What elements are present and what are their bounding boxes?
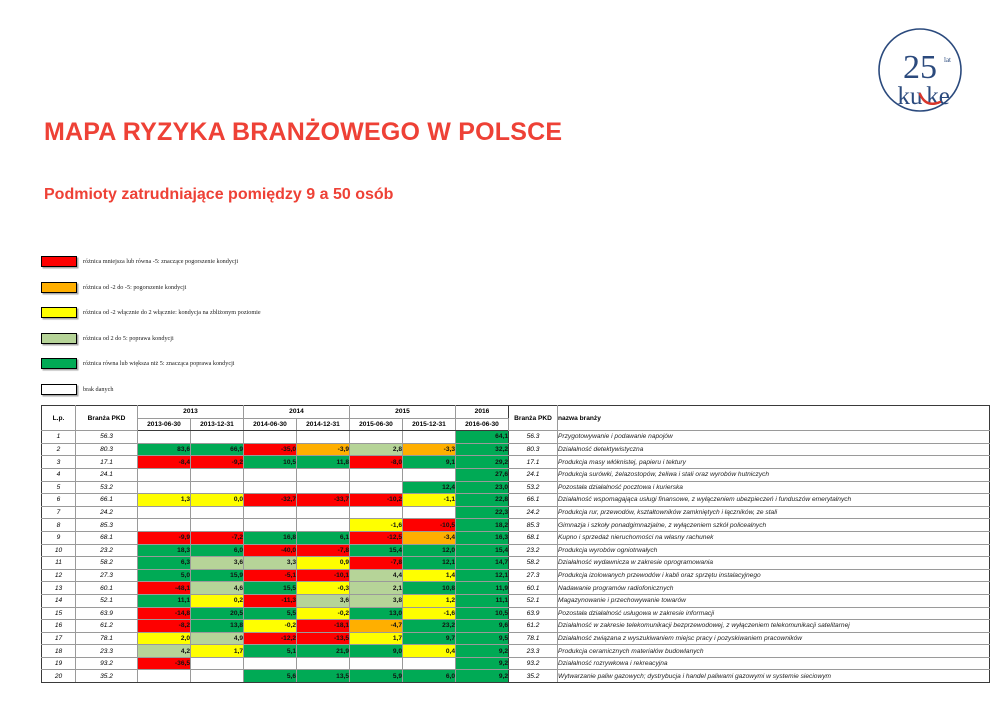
cell-value [350, 468, 403, 481]
cell-value: -12,5 [350, 531, 403, 544]
cell-value: -0,2 [244, 620, 297, 633]
cell-value [350, 431, 403, 444]
cell-value: -8,4 [138, 456, 191, 469]
table-row: 885.3-1,6-10,518,285.3Gimnazja i szkoły … [42, 519, 990, 532]
cell-value [244, 657, 297, 670]
cell-value: 12,0 [403, 544, 456, 557]
cell-value: 12,4 [403, 481, 456, 494]
th-date-2014-12-31: 2014-12-31 [297, 418, 350, 431]
header-row-groups: L.p. Branża PKD 2013 2014 2015 2016 Bran… [42, 406, 990, 419]
cell-value: 23,2 [403, 620, 456, 633]
cell-pkd-right: 85.3 [509, 519, 558, 532]
cell-value: 5,5 [244, 607, 297, 620]
cell-value: 0,0 [191, 494, 244, 507]
cell-pkd: 58.2 [76, 557, 138, 570]
cell-branch-name: Działalność wspomagająca usługi finansow… [558, 494, 990, 507]
cell-value: -9,2 [191, 456, 244, 469]
cell-value: -10,5 [403, 519, 456, 532]
cell-lp: 11 [42, 557, 76, 570]
cell-lp: 2 [42, 443, 76, 456]
cell-value [403, 431, 456, 444]
cell-value: 9,2 [456, 670, 509, 683]
cell-branch-name: Działalność związana z wyszukiwaniem mie… [558, 632, 990, 645]
cell-value: 11,9 [456, 582, 509, 595]
cell-branch-name: Działalność wydawnicza w zakresie oprogr… [558, 557, 990, 570]
cell-lp: 1 [42, 431, 76, 444]
cell-value: 10,5 [456, 607, 509, 620]
cell-value: -8,0 [350, 456, 403, 469]
cell-value: -3,3 [403, 443, 456, 456]
cell-value: 3,6 [297, 594, 350, 607]
cell-value [138, 506, 191, 519]
cell-value [403, 657, 456, 670]
cell-lp: 17 [42, 632, 76, 645]
cell-value: -36,5 [138, 657, 191, 670]
legend-swatch [41, 384, 77, 395]
cell-pkd-right: 24.1 [509, 468, 558, 481]
cell-value [191, 657, 244, 670]
cell-value: 15,9 [191, 569, 244, 582]
table-row: 1823.34,21,75,121,99,00,49,223.3Produkcj… [42, 645, 990, 658]
legend-item: brak danych [41, 383, 601, 396]
cell-lp: 14 [42, 594, 76, 607]
table-row: 156.364,156.3Przygotowywanie i podawanie… [42, 431, 990, 444]
table-row: 553.212,423,053.2Pozostała działalność p… [42, 481, 990, 494]
cell-lp: 15 [42, 607, 76, 620]
cell-value: 11,1 [138, 594, 191, 607]
legend-swatch [41, 256, 77, 267]
cell-value [403, 506, 456, 519]
cell-value: 13,0 [350, 607, 403, 620]
cell-value [138, 670, 191, 683]
cell-value: 6,0 [403, 670, 456, 683]
cell-pkd: 27.3 [76, 569, 138, 582]
th-date-2015-12-31: 2015-12-31 [403, 418, 456, 431]
cell-value: 4,2 [138, 645, 191, 658]
cell-lp: 7 [42, 506, 76, 519]
cell-value [244, 519, 297, 532]
table-row: 317.1-8,4-9,210,511,8-8,09,129,217.1Prod… [42, 456, 990, 469]
cell-branch-name: Produkcja surówki, żelazostopów, żeliwa … [558, 468, 990, 481]
cell-pkd-right: 80.3 [509, 443, 558, 456]
kuke-logo: 25 lat ku ke [862, 22, 974, 122]
cell-value: 13,8 [191, 620, 244, 633]
cell-branch-name: Pozostała działalność pocztowa i kuriers… [558, 481, 990, 494]
table-row: 1360.1-48,14,615,5-0,32,110,811,960.1Nad… [42, 582, 990, 595]
cell-value: 3,8 [350, 594, 403, 607]
svg-text:lat: lat [944, 56, 951, 64]
cell-pkd: 35.2 [76, 670, 138, 683]
cell-pkd: 61.2 [76, 620, 138, 633]
cell-value: -0,3 [297, 582, 350, 595]
th-lp: L.p. [42, 406, 76, 431]
cell-lp: 13 [42, 582, 76, 595]
cell-value: 1,2 [403, 594, 456, 607]
legend-swatch [41, 358, 77, 369]
cell-pkd-right: 56.3 [509, 431, 558, 444]
cell-value: -9,9 [138, 531, 191, 544]
cell-pkd-right: 35.2 [509, 670, 558, 683]
cell-value: 29,2 [456, 456, 509, 469]
cell-value: 22,8 [456, 494, 509, 507]
cell-value: -11,3 [244, 594, 297, 607]
cell-value: -40,0 [244, 544, 297, 557]
cell-value: 32,2 [456, 443, 509, 456]
table-row: 1993.2-36,59,293.2Działalność rozrywkowa… [42, 657, 990, 670]
cell-value: 2,1 [350, 582, 403, 595]
cell-value: -1,1 [403, 494, 456, 507]
cell-lp: 19 [42, 657, 76, 670]
cell-value: -32,7 [244, 494, 297, 507]
cell-value: 11,1 [456, 594, 509, 607]
cell-value [350, 506, 403, 519]
cell-value: 18,3 [138, 544, 191, 557]
th-group-2014: 2014 [244, 406, 350, 419]
cell-value [350, 657, 403, 670]
cell-lp: 16 [42, 620, 76, 633]
cell-value: -14,8 [138, 607, 191, 620]
cell-lp: 12 [42, 569, 76, 582]
cell-branch-name: Magazynowanie i przechowywanie towarów [558, 594, 990, 607]
cell-pkd-right: 66.1 [509, 494, 558, 507]
table-row: 1661.2-8,213,8-0,2-18,1-4,723,29,661.2Dz… [42, 620, 990, 633]
cell-value [244, 431, 297, 444]
cell-value [191, 481, 244, 494]
cell-value [297, 519, 350, 532]
cell-value: 15,5 [244, 582, 297, 595]
cell-value [350, 481, 403, 494]
cell-value: 11,8 [297, 456, 350, 469]
cell-lp: 18 [42, 645, 76, 658]
cell-value: -0,2 [297, 607, 350, 620]
legend-swatch [41, 307, 77, 318]
cell-pkd-right: 63.9 [509, 607, 558, 620]
cell-value: 10,8 [403, 582, 456, 595]
th-group-2016: 2016 [456, 406, 509, 419]
page-subtitle: Podmioty zatrudniające pomiędzy 9 a 50 o… [44, 186, 393, 204]
cell-value [297, 481, 350, 494]
cell-value: -7,2 [191, 531, 244, 544]
cell-value: 9,1 [403, 456, 456, 469]
cell-value: 12,1 [403, 557, 456, 570]
cell-pkd-right: 61.2 [509, 620, 558, 633]
cell-pkd: 66.1 [76, 494, 138, 507]
cell-value [297, 468, 350, 481]
risk-table: L.p. Branża PKD 2013 2014 2015 2016 Bran… [41, 405, 990, 683]
cell-value: -1,6 [403, 607, 456, 620]
th-date-2015-06-30: 2015-06-30 [350, 418, 403, 431]
cell-pkd-right: 17.1 [509, 456, 558, 469]
th-group-2013: 2013 [138, 406, 244, 419]
legend-label: różnica od -2 włącznie do 2 włącznie: ko… [83, 309, 261, 316]
cell-value [244, 506, 297, 519]
cell-pkd-right: 53.2 [509, 481, 558, 494]
cell-value: 4,9 [191, 632, 244, 645]
cell-value [138, 431, 191, 444]
cell-pkd-right: 27.3 [509, 569, 558, 582]
cell-pkd: 78.1 [76, 632, 138, 645]
cell-pkd-right: 52.1 [509, 594, 558, 607]
cell-lp: 8 [42, 519, 76, 532]
cell-value: 27,6 [456, 468, 509, 481]
cell-value: 4,4 [350, 569, 403, 582]
cell-value: 64,1 [456, 431, 509, 444]
cell-value: -3,9 [297, 443, 350, 456]
legend-item: różnica mniejsza lub równa -5: znaczące … [41, 255, 601, 268]
cell-value: -18,1 [297, 620, 350, 633]
cell-branch-name: Działalność detektywistyczna [558, 443, 990, 456]
legend-label: brak danych [83, 386, 113, 393]
cell-pkd: 24.1 [76, 468, 138, 481]
legend-swatch [41, 282, 77, 293]
cell-lp: 6 [42, 494, 76, 507]
cell-value: -4,7 [350, 620, 403, 633]
table-row: 724.222,324.2Produkcja rur, przewodów, k… [42, 506, 990, 519]
cell-pkd-right: 78.1 [509, 632, 558, 645]
cell-branch-name: Przygotowywanie i podawanie napojów [558, 431, 990, 444]
cell-lp: 9 [42, 531, 76, 544]
table-row: 1227.35,015,9-5,1-10,14,41,412,127.3Prod… [42, 569, 990, 582]
cell-value: 2,8 [350, 443, 403, 456]
cell-lp: 10 [42, 544, 76, 557]
cell-value: 1,7 [350, 632, 403, 645]
cell-pkd: 24.2 [76, 506, 138, 519]
cell-value [297, 431, 350, 444]
cell-value: 66,9 [191, 443, 244, 456]
cell-value [191, 431, 244, 444]
cell-value: -1,6 [350, 519, 403, 532]
cell-value [297, 657, 350, 670]
cell-value: -12,2 [244, 632, 297, 645]
cell-value: 21,9 [297, 645, 350, 658]
cell-branch-name: Gimnazja i szkoły ponadgimnazjalne, z wy… [558, 519, 990, 532]
cell-value [191, 468, 244, 481]
cell-value: 2,0 [138, 632, 191, 645]
table-row: 1452.111,10,2-11,33,63,81,211,152.1Magaz… [42, 594, 990, 607]
cell-branch-name: Działalność w zakresie telekomunikacji b… [558, 620, 990, 633]
cell-pkd: 53.2 [76, 481, 138, 494]
cell-pkd: 63.9 [76, 607, 138, 620]
th-pkd-right: Branża PKD [509, 406, 558, 431]
cell-value [138, 468, 191, 481]
legend-swatch [41, 333, 77, 344]
cell-value: -10,1 [297, 569, 350, 582]
cell-value [297, 506, 350, 519]
cell-pkd-right: 93.2 [509, 657, 558, 670]
th-group-2015: 2015 [350, 406, 456, 419]
cell-value: 6,0 [191, 544, 244, 557]
cell-value: 1,7 [191, 645, 244, 658]
cell-value: 3,3 [244, 557, 297, 570]
cell-value: 22,3 [456, 506, 509, 519]
cell-value: 1,4 [403, 569, 456, 582]
cell-branch-name: Produkcja ceramicznych materiałów budowl… [558, 645, 990, 658]
cell-value: 9,2 [456, 657, 509, 670]
th-branch-name: nazwa branży [558, 406, 990, 431]
cell-value: 3,6 [191, 557, 244, 570]
cell-value [191, 506, 244, 519]
table-row: 424.127,624.1Produkcja surówki, żelazost… [42, 468, 990, 481]
cell-value: -13,5 [297, 632, 350, 645]
cell-branch-name: Produkcja izolowanych przewodów i kabli … [558, 569, 990, 582]
cell-value: 15,4 [350, 544, 403, 557]
cell-value [138, 519, 191, 532]
table-body: 156.364,156.3Przygotowywanie i podawanie… [42, 431, 990, 683]
table-row: 2035.25,613,55,96,09,235.2Wytwarzanie pa… [42, 670, 990, 683]
cell-value: -3,4 [403, 531, 456, 544]
table-row: 1563.9-14,820,55,5-0,213,0-1,610,563.9Po… [42, 607, 990, 620]
cell-value: 20,5 [191, 607, 244, 620]
cell-value: 83,6 [138, 443, 191, 456]
cell-branch-name: Kupno i sprzedaż nieruchomości na własny… [558, 531, 990, 544]
legend-item: różnica od 2 do 5: poprawa kondycji [41, 332, 601, 345]
cell-pkd: 17.1 [76, 456, 138, 469]
cell-value: 9,7 [403, 632, 456, 645]
table-row: 666.11,30,0-32,7-33,7-10,2-1,122,866.1Dz… [42, 494, 990, 507]
cell-value: 23,0 [456, 481, 509, 494]
cell-value: 9,0 [350, 645, 403, 658]
table-row: 968.1-9,9-7,216,86,1-12,5-3,416,368.1Kup… [42, 531, 990, 544]
cell-value: 9,6 [456, 620, 509, 633]
cell-value: 14,7 [456, 557, 509, 570]
cell-pkd-right: 60.1 [509, 582, 558, 595]
legend-label: różnica równa lub większa niż 5: znacząc… [83, 360, 235, 367]
th-date-2013-12-31: 2013-12-31 [191, 418, 244, 431]
cell-value: -48,1 [138, 582, 191, 595]
cell-value: 12,1 [456, 569, 509, 582]
cell-pkd: 52.1 [76, 594, 138, 607]
legend-item: różnica równa lub większa niż 5: znacząc… [41, 357, 601, 370]
cell-lp: 5 [42, 481, 76, 494]
table-row: 1778.12,04,9-12,2-13,51,79,79,578.1Dział… [42, 632, 990, 645]
cell-branch-name: Nadawanie programów radiofonicznych [558, 582, 990, 595]
cell-value: -8,2 [138, 620, 191, 633]
risk-table-wrapper: L.p. Branża PKD 2013 2014 2015 2016 Bran… [41, 405, 990, 683]
svg-text:25: 25 [903, 49, 937, 86]
legend-item: różnica od -2 włącznie do 2 włącznie: ko… [41, 306, 601, 319]
cell-value: -7,8 [297, 544, 350, 557]
cell-pkd: 23.2 [76, 544, 138, 557]
th-date-2013-06-30: 2013-06-30 [138, 418, 191, 431]
table-row: 280.383,666,9-35,0-3,92,8-3,332,280.3Dzi… [42, 443, 990, 456]
legend: różnica mniejsza lub równa -5: znaczące … [41, 255, 601, 409]
cell-value: 5,6 [244, 670, 297, 683]
cell-branch-name: Produkcja masy włóknistej, papieru i tek… [558, 456, 990, 469]
cell-pkd-right: 23.2 [509, 544, 558, 557]
cell-pkd: 60.1 [76, 582, 138, 595]
cell-value: 6,1 [297, 531, 350, 544]
cell-value: 9,2 [456, 645, 509, 658]
cell-value: 0,4 [403, 645, 456, 658]
cell-value: 0,2 [191, 594, 244, 607]
cell-value: 18,2 [456, 519, 509, 532]
cell-lp: 20 [42, 670, 76, 683]
cell-pkd-right: 24.2 [509, 506, 558, 519]
cell-value: 16,8 [244, 531, 297, 544]
cell-pkd: 93.2 [76, 657, 138, 670]
cell-value: 9,5 [456, 632, 509, 645]
legend-item: różnica od -2 do -5: pogorszenie kondycj… [41, 281, 601, 294]
table-head: L.p. Branża PKD 2013 2014 2015 2016 Bran… [42, 406, 990, 431]
cell-value: -7,8 [350, 557, 403, 570]
cell-value [244, 481, 297, 494]
cell-value: 5,1 [244, 645, 297, 658]
cell-value: -10,2 [350, 494, 403, 507]
cell-value: 13,5 [297, 670, 350, 683]
cell-value: -35,0 [244, 443, 297, 456]
cell-value: 4,6 [191, 582, 244, 595]
table-row: 1023.218,36,0-40,0-7,815,412,015,423.2Pr… [42, 544, 990, 557]
cell-pkd-right: 58.2 [509, 557, 558, 570]
cell-pkd-right: 23.3 [509, 645, 558, 658]
cell-value: 5,9 [350, 670, 403, 683]
cell-value: 6,3 [138, 557, 191, 570]
cell-value: 0,9 [297, 557, 350, 570]
cell-branch-name: Pozostała działalność usługowa w zakresi… [558, 607, 990, 620]
svg-text:ku: ku [898, 83, 924, 110]
svg-text:ke: ke [926, 83, 950, 110]
page-title: MAPA RYZYKA BRANŻOWEGO W POLSCE [44, 118, 562, 147]
cell-value [244, 468, 297, 481]
cell-value: -33,7 [297, 494, 350, 507]
cell-value [191, 670, 244, 683]
cell-lp: 4 [42, 468, 76, 481]
th-date-2016-06-30: 2016-06-30 [456, 418, 509, 431]
cell-value [138, 481, 191, 494]
cell-pkd-right: 68.1 [509, 531, 558, 544]
cell-branch-name: Produkcja wyrobów ogniotrwałych [558, 544, 990, 557]
cell-value [403, 468, 456, 481]
cell-value: 1,3 [138, 494, 191, 507]
cell-value: -5,1 [244, 569, 297, 582]
cell-value: 16,3 [456, 531, 509, 544]
cell-lp: 3 [42, 456, 76, 469]
cell-pkd: 68.1 [76, 531, 138, 544]
legend-label: różnica mniejsza lub równa -5: znaczące … [83, 258, 238, 265]
cell-pkd: 85.3 [76, 519, 138, 532]
cell-pkd: 56.3 [76, 431, 138, 444]
cell-value: 10,5 [244, 456, 297, 469]
legend-label: różnica od 2 do 5: poprawa kondycji [83, 335, 174, 342]
th-date-2014-06-30: 2014-06-30 [244, 418, 297, 431]
cell-pkd: 23.3 [76, 645, 138, 658]
cell-value: 15,4 [456, 544, 509, 557]
table-row: 1158.26,33,63,30,9-7,812,114,758.2Działa… [42, 557, 990, 570]
cell-branch-name: Działalność rozrywkowa i rekreacyjna [558, 657, 990, 670]
cell-value [191, 519, 244, 532]
cell-pkd: 80.3 [76, 443, 138, 456]
cell-value: 5,0 [138, 569, 191, 582]
legend-label: różnica od -2 do -5: pogorszenie kondycj… [83, 284, 186, 291]
cell-branch-name: Produkcja rur, przewodów, kształtowników… [558, 506, 990, 519]
cell-branch-name: Wytwarzanie paliw gazowych; dystrybucja … [558, 670, 990, 683]
th-pkd: Branża PKD [76, 406, 138, 431]
